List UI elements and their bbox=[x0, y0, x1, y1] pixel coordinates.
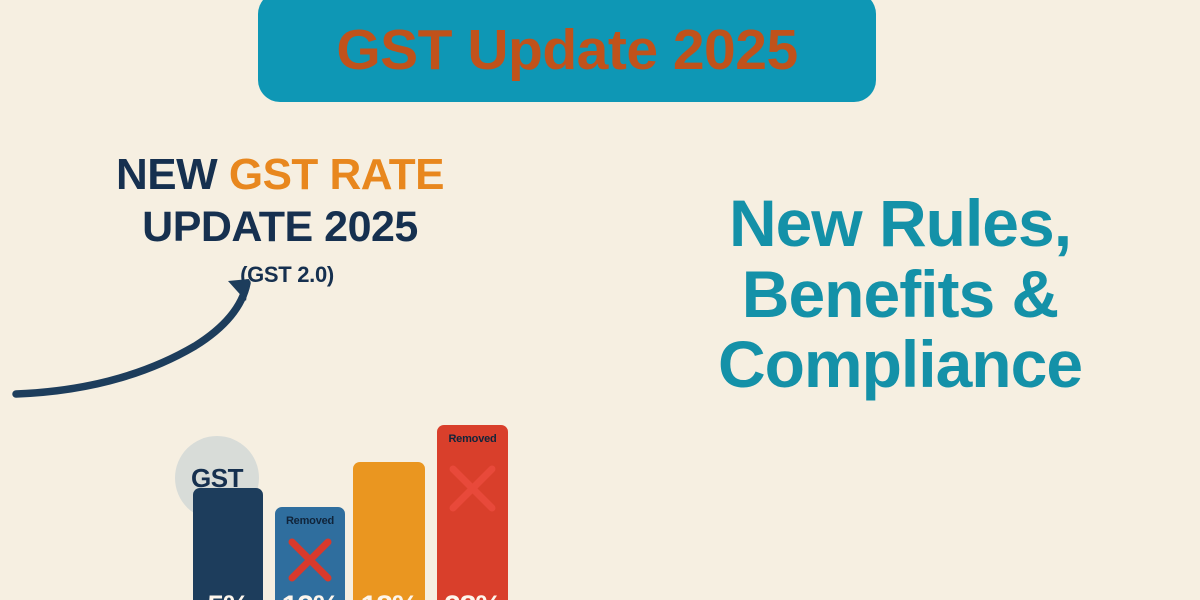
header-badge-label: GST Update 2025 bbox=[336, 16, 797, 79]
poster-canvas: GST Update 2025 NEW GST RATE UPDATE 2025… bbox=[0, 0, 1200, 600]
headline-line-3: Compliance bbox=[640, 329, 1160, 400]
headline: New Rules, Benefits & Compliance bbox=[640, 188, 1160, 400]
red-x-icon-12 bbox=[275, 507, 345, 600]
bar-value-label-3: 28% bbox=[437, 592, 508, 600]
bar-rate-28: Removed 28% bbox=[437, 425, 508, 600]
headline-line-1: New Rules, bbox=[640, 188, 1160, 259]
growth-arrow-icon bbox=[0, 140, 600, 540]
bar-value-label-0: 5% bbox=[193, 592, 263, 600]
red-x-icon-28 bbox=[437, 425, 508, 600]
bar-value-label-2: 18% bbox=[353, 592, 425, 600]
bar-rate-5: 5% bbox=[193, 488, 263, 600]
bar-rate-18: 18% bbox=[353, 462, 425, 600]
headline-line-2: Benefits & bbox=[640, 259, 1160, 330]
bar-rate-12: Removed 12% bbox=[275, 507, 345, 600]
gst-infographic: NEW GST RATE UPDATE 2025 (GST 2.0) GST 5… bbox=[0, 140, 600, 540]
header-badge: GST Update 2025 bbox=[258, 0, 876, 102]
bar-value-label-1: 12% bbox=[275, 592, 345, 600]
